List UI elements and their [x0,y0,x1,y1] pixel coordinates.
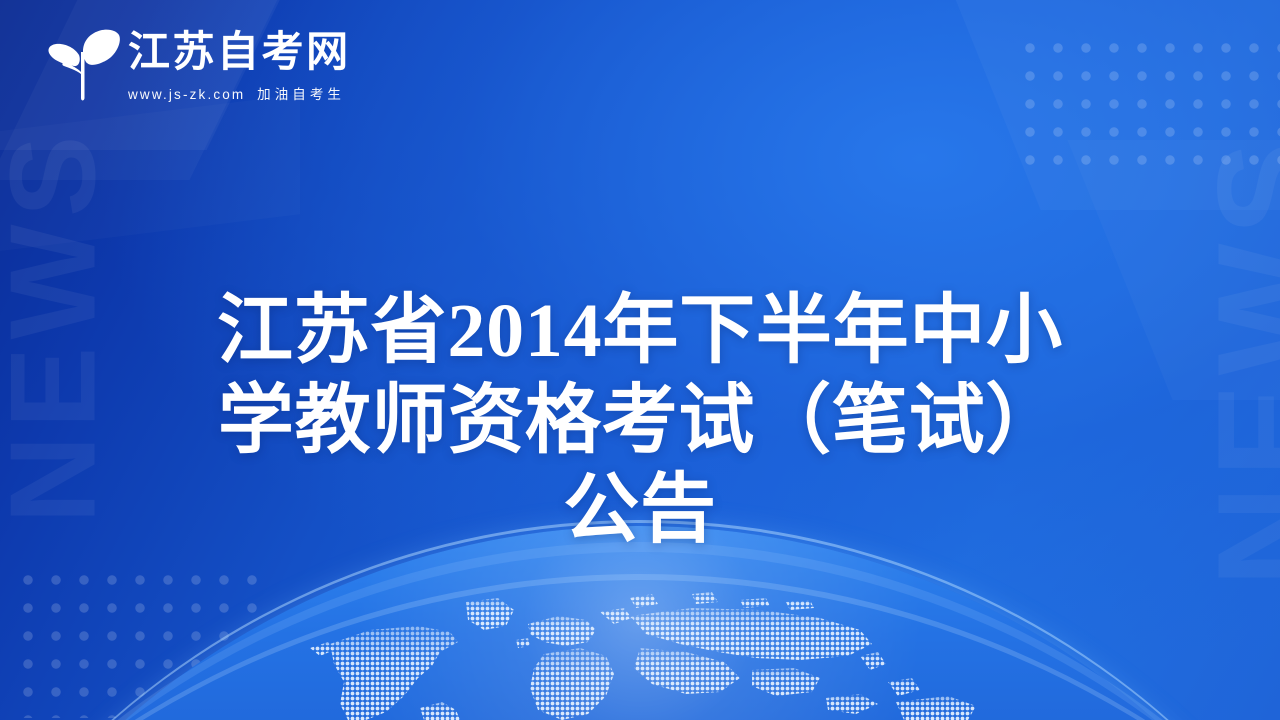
dot-grid-pattern-icon [1016,34,1280,178]
brand-tagline: www.js-zk.com 加油自考生 [128,83,351,103]
background-ribbon-shape [1067,140,1280,400]
background-ribbon-shape [0,94,300,266]
news-banner: NEWS NEWS [0,0,1280,720]
background-ribbon-shape [919,0,1280,210]
brand-url-text: www.js-zk.com [128,87,245,102]
globe-arc [0,574,1280,720]
brand-name: 江苏自考网 [128,30,351,74]
news-watermark-left: NEWS [0,128,114,523]
brand-slogan: 加油自考生 [257,87,345,102]
site-logo[interactable]: 江苏自考网 www.js-zk.com 加油自考生 [36,26,351,104]
sprout-leaf-icon [36,26,122,104]
page-title: 江苏省2014年下半年中小学教师资格考试（笔试）公告 [190,287,1090,556]
